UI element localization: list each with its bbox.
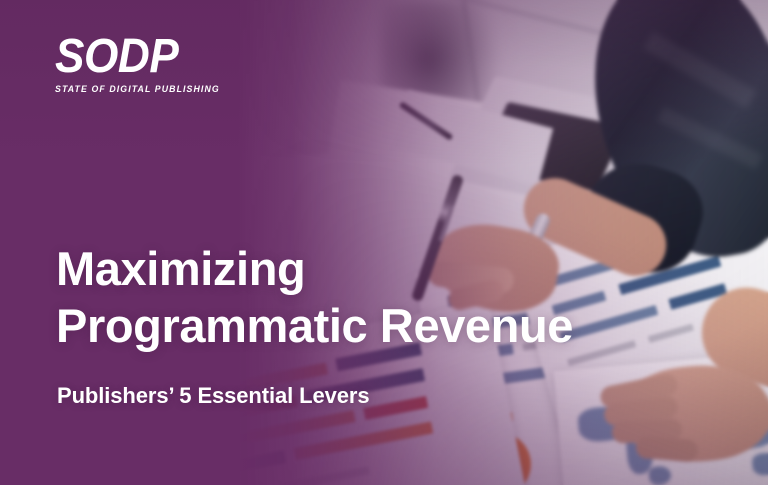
page-title: Maximizing Programmatic Revenue — [56, 240, 573, 354]
logo-wordmark: SODP — [55, 33, 211, 81]
page-title-line-1: Maximizing — [56, 242, 305, 295]
hero-banner: SODP STATE OF DIGITAL PUBLISHING Maximiz… — [0, 0, 768, 485]
logo-tagline: STATE OF DIGITAL PUBLISHING — [55, 84, 220, 95]
sodp-logo[interactable]: SODP STATE OF DIGITAL PUBLISHING — [55, 33, 225, 95]
banner-content: SODP STATE OF DIGITAL PUBLISHING Maximiz… — [0, 0, 768, 485]
page-title-line-2: Programmatic Revenue — [56, 297, 573, 354]
page-subtitle: Publishers’ 5 Essential Levers — [57, 382, 370, 410]
